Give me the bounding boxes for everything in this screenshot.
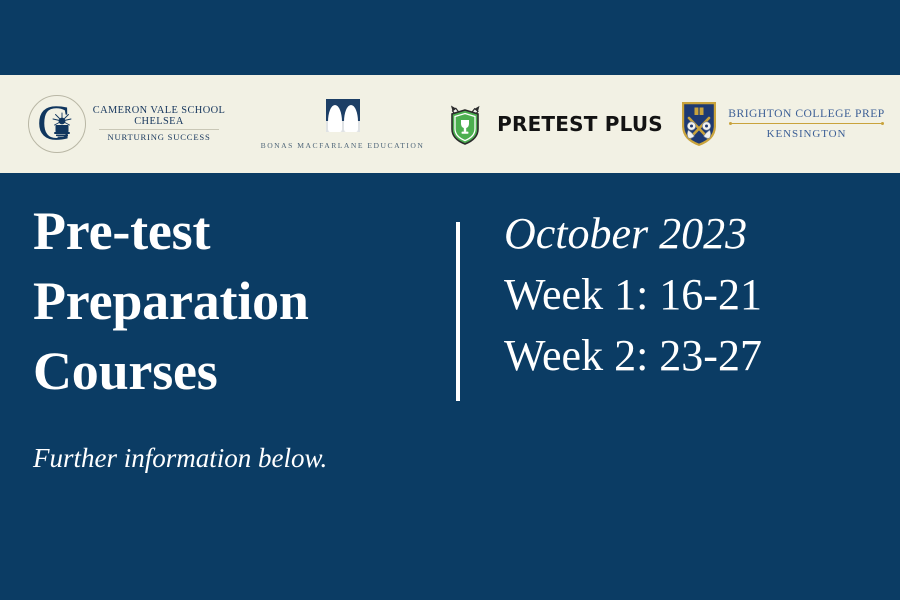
bonas-macfarlane-wordmark: BONAS MACFARLANE EDUCATION [261,141,425,150]
promotional-banner: C [0,0,900,600]
logo-brighton-college-prep: BRIGHTON COLLEGE PREP KENSINGTON [665,75,900,173]
partner-logo-strip: C [0,75,900,173]
headline-line-2: Preparation [33,266,433,336]
logo-bonas-macfarlane-education: BONAS MACFARLANE EDUCATION [245,75,440,173]
cameron-vale-rule [99,129,220,130]
cameron-vale-line-1: CAMERON VALE SCHOOL [93,105,226,116]
cameron-vale-line-2: CHELSEA [93,116,226,127]
pretest-plus-wordmark: PRETEST PLUS [497,112,663,136]
logo-cameron-vale-school: C [0,75,245,173]
cameron-vale-crest-icon: C [28,95,86,153]
brighton-college-divider [730,123,883,124]
headline-line-1: Pre-test [33,196,433,266]
date-month: October 2023 [504,203,894,264]
logo-pretest-plus: PRETEST PLUS [440,75,665,173]
vertical-divider [456,222,460,401]
bonas-macfarlane-arches-icon [326,99,360,132]
cameron-vale-wordmark: CAMERON VALE SCHOOL CHELSEA NURTURING SU… [93,105,226,142]
brighton-college-line-2: KENSINGTON [728,128,885,140]
date-week-2: Week 2: 23-27 [504,325,894,386]
brighton-college-line-1: BRIGHTON COLLEGE PREP [728,108,885,121]
headline-line-3: Courses [33,336,433,406]
date-week-1: Week 1: 16-21 [504,264,894,325]
cameron-vale-crest-detail-icon [50,112,74,138]
brighton-college-shield-icon [680,100,718,148]
cameron-vale-tagline: NURTURING SUCCESS [93,133,226,142]
brighton-college-wordmark: BRIGHTON COLLEGE PREP KENSINGTON [728,108,885,141]
dates-block: October 2023 Week 1: 16-21 Week 2: 23-27 [504,203,894,386]
subtitle-text: Further information below. [33,440,327,476]
page-title: Pre-test Preparation Courses [33,196,433,406]
pretest-plus-shield-icon [442,100,488,148]
